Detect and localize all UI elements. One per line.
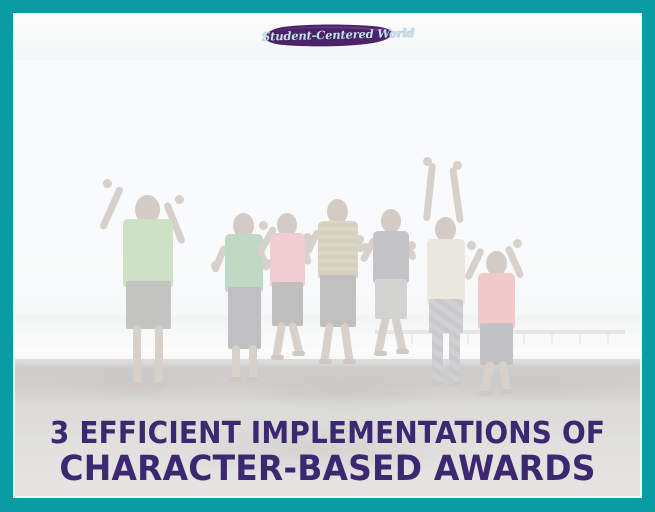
pin-title-line-1: 3 Efficient Implementations of xyxy=(42,418,612,450)
child-figure-1 xyxy=(101,169,197,391)
pin-inner-panel: Student-Centered World 3 Efficient Imple… xyxy=(13,13,642,498)
brand-wordmark: Student-Centered World xyxy=(261,18,394,51)
pin-title: 3 Efficient Implementations of Character… xyxy=(13,418,642,488)
pin-header-band: Student-Centered World xyxy=(13,13,642,60)
pinterest-pin-card: Student-Centered World 3 Efficient Imple… xyxy=(0,0,655,512)
pin-title-line-2: Character-Based Awards xyxy=(39,451,615,488)
brand-logo[interactable]: Student-Centered World xyxy=(262,20,394,50)
child-figure-7 xyxy=(465,229,531,405)
